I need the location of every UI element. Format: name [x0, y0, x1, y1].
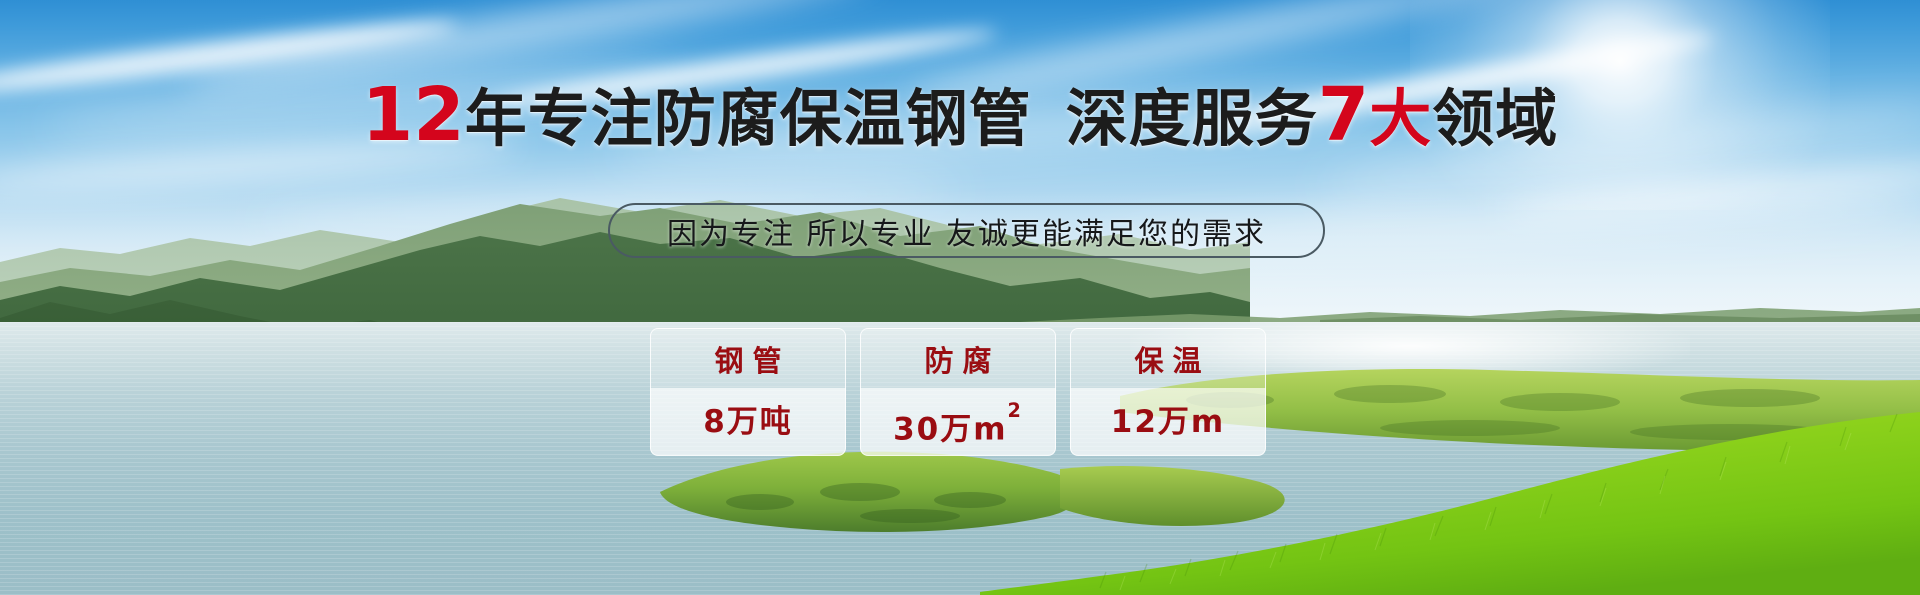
headline-years-number: 12 — [362, 72, 465, 158]
subtitle-pill: 因为专注 所以专业 友诚更能满足您的需求 — [608, 203, 1325, 258]
stat-card-group: 钢管 8万吨 防腐 30万m2 保温 12万m — [650, 328, 1266, 456]
stat-value-superscript: 2 — [1008, 399, 1023, 422]
headline-service-text: 深度服务 — [1066, 82, 1318, 155]
headline-fields-unit: 大 — [1369, 82, 1432, 155]
sky-background — [0, 0, 1920, 330]
stat-value-text: 30万m — [893, 411, 1007, 447]
stat-title: 保温 — [1125, 331, 1210, 391]
stat-title: 钢管 — [705, 331, 790, 391]
promo-banner: 12年专注防腐保温钢管深度服务7大领域 因为专注 所以专业 友诚更能满足您的需求… — [0, 0, 1920, 595]
subtitle-text: 因为专注 所以专业 友诚更能满足您的需求 — [667, 209, 1266, 253]
stat-value-text: 8万吨 — [703, 404, 793, 440]
headline-main-text: 年专注防腐保温钢管 — [465, 82, 1032, 155]
stat-card-steel-pipe[interactable]: 钢管 8万吨 — [650, 328, 846, 456]
headline-fields-number: 7 — [1318, 72, 1370, 158]
stat-value-text: 12万m — [1111, 404, 1225, 440]
stat-card-insulation[interactable]: 保温 12万m — [1070, 328, 1266, 456]
stat-value: 30万m2 — [893, 391, 1023, 453]
stat-title: 防腐 — [915, 331, 1000, 391]
page-title: 12年专注防腐保温钢管深度服务7大领域 — [0, 80, 1920, 154]
stat-value: 12万m — [1111, 391, 1225, 453]
stat-value: 8万吨 — [703, 391, 793, 453]
stat-card-anticorrosion[interactable]: 防腐 30万m2 — [860, 328, 1056, 456]
headline-fields-tail: 领域 — [1432, 82, 1558, 155]
